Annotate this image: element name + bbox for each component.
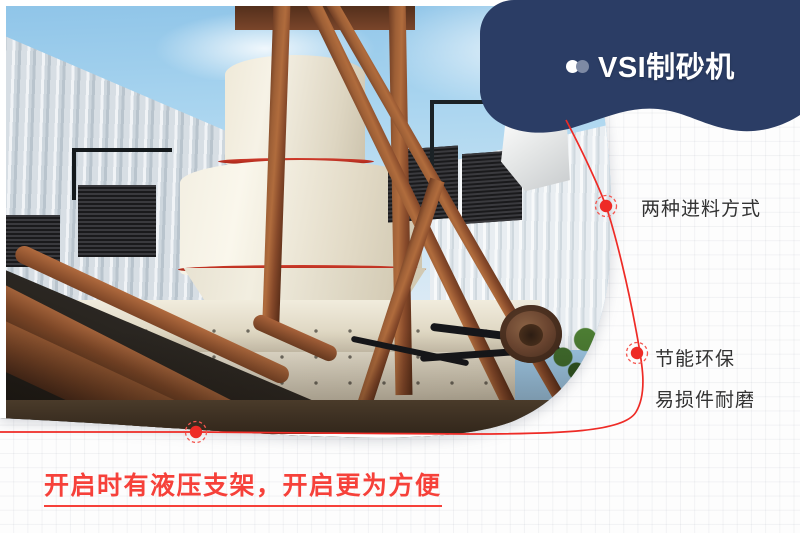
page-title: VSI制砂机 [598, 44, 735, 86]
platform-railing-left [72, 148, 172, 200]
photo-bottom-shading [0, 330, 620, 440]
callout-label-eco: 节能环保 [655, 344, 735, 371]
promo-banner-stage: VSI制砂机 两种进料方式 节能环保 易损件耐磨 开启时有液压支架，开启更为方便 [0, 0, 800, 533]
callout-label-wear: 易损件耐磨 [655, 385, 755, 412]
crusher-main-drum [180, 160, 422, 275]
bottom-caption: 开启时有液压支架，开启更为方便 [44, 466, 442, 507]
callout-label-feed: 两种进料方式 [641, 194, 761, 221]
title-bullet-icon [566, 60, 592, 73]
